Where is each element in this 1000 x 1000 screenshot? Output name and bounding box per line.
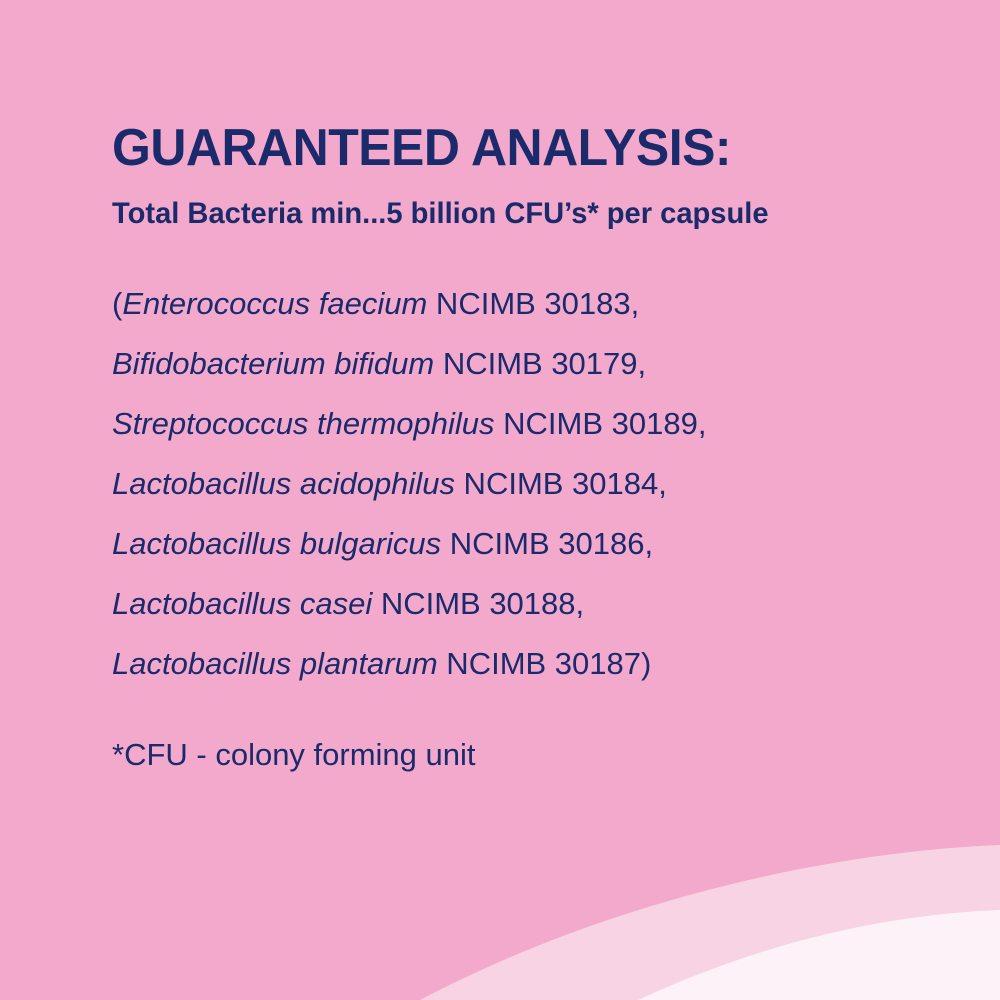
species-strain-code: NCIMB 30179,: [434, 346, 646, 381]
label-content: GUARANTEED ANALYSIS: Total Bacteria min.…: [112, 0, 912, 773]
species-list-item: (Enterococcus faecium NCIMB 30183,: [112, 274, 912, 334]
species-name: Lactobacillus bulgaricus: [112, 526, 441, 561]
species-name: Lactobacillus plantarum: [112, 646, 438, 681]
page-title: GUARANTEED ANALYSIS:: [112, 0, 880, 174]
species-list-item: Streptococcus thermophilus NCIMB 30189,: [112, 394, 912, 454]
wave-band-2-shape: [638, 910, 1000, 1000]
total-bacteria-statement: Total Bacteria min...5 billion CFU’s* pe…: [112, 174, 791, 234]
species-name: Lactobacillus casei: [112, 586, 372, 621]
species-strain-code: NCIMB 30186,: [441, 526, 653, 561]
species-strain-code: NCIMB 30189,: [495, 406, 707, 441]
species-list-item: Lactobacillus casei NCIMB 30188,: [112, 574, 912, 634]
species-name: Enterococcus faecium: [122, 286, 427, 321]
species-list: (Enterococcus faecium NCIMB 30183,Bifido…: [112, 234, 912, 694]
species-strain-code: NCIMB 30184,: [455, 466, 667, 501]
species-list-item: Lactobacillus acidophilus NCIMB 30184,: [112, 454, 912, 514]
species-name: Bifidobacterium bifidum: [112, 346, 434, 381]
species-name: Streptococcus thermophilus: [112, 406, 495, 441]
species-list-item: Bifidobacterium bifidum NCIMB 30179,: [112, 334, 912, 394]
species-name: Lactobacillus acidophilus: [112, 466, 455, 501]
species-open-paren: (: [112, 286, 122, 321]
cfu-footnote: *CFU - colony forming unit: [112, 694, 912, 773]
species-strain-code: NCIMB 30187): [438, 646, 652, 681]
guaranteed-analysis-panel: GUARANTEED ANALYSIS: Total Bacteria min.…: [0, 0, 1000, 1000]
species-list-item: Lactobacillus plantarum NCIMB 30187): [112, 634, 912, 694]
species-list-item: Lactobacillus bulgaricus NCIMB 30186,: [112, 514, 912, 574]
species-strain-code: NCIMB 30188,: [372, 586, 584, 621]
wave-band-1-shape: [420, 845, 1000, 1000]
species-strain-code: NCIMB 30183,: [427, 286, 639, 321]
